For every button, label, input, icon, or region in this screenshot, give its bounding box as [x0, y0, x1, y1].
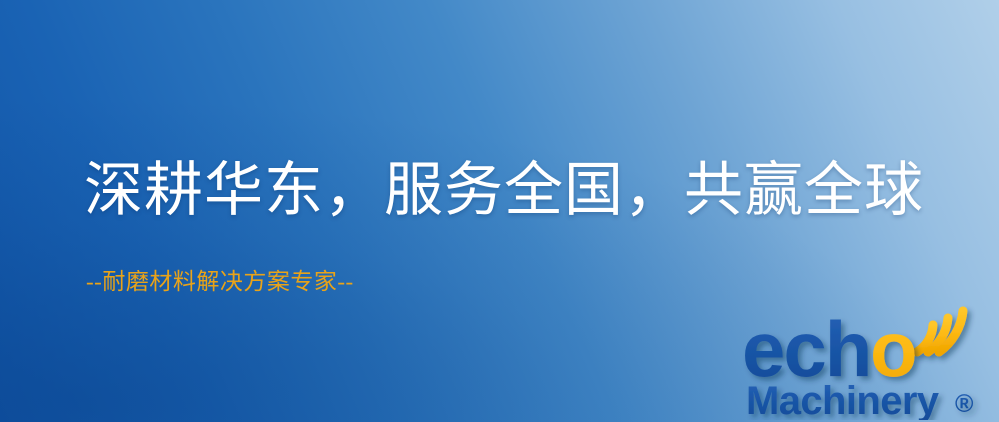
logo-tagline: Machinery [746, 379, 940, 420]
banner-headline: 深耕华东，服务全国，共赢全球 [84, 155, 924, 225]
hero-banner: 深耕华东，服务全国，共赢全球 --耐磨材料解决方案专家-- [0, 0, 999, 422]
echo-machinery-logo[interactable]: ech o Machinery ® [742, 292, 994, 420]
banner-subheadline: --耐磨材料解决方案专家-- [86, 268, 354, 296]
logo-registered-mark: ® [955, 390, 974, 418]
echo-wave-arcs [917, 311, 963, 352]
